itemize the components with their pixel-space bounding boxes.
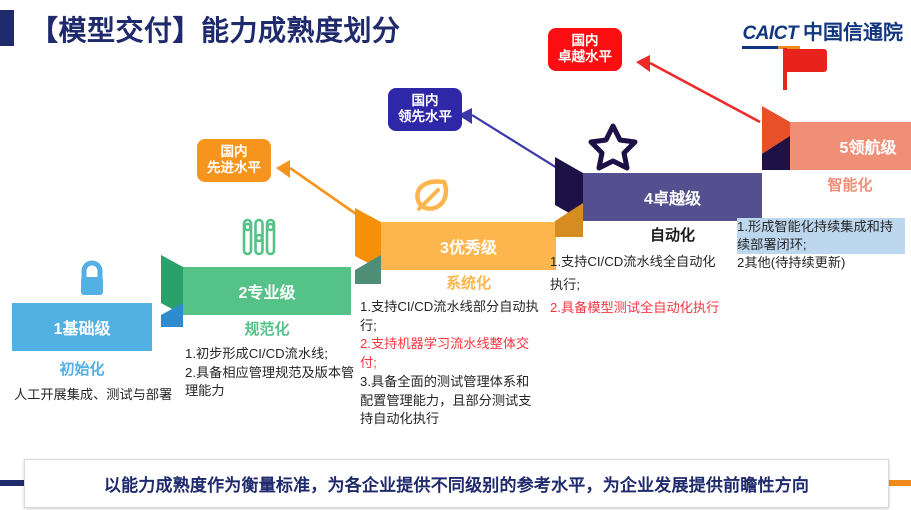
- flag-cloth: [787, 49, 827, 72]
- callout-red-line2: 卓越水平: [558, 49, 612, 65]
- step-level-1-label: 1基础级: [12, 315, 152, 339]
- logo-abbr: CAICT: [742, 23, 798, 49]
- footer-banner: 以能力成熟度作为衡量标准，为各企业提供不同级别的参考水平，为企业发展提供前瞻性方…: [24, 459, 889, 508]
- caict-logo: CAICT中国信通院: [742, 16, 903, 49]
- step-level-2[interactable]: 2专业级: [183, 267, 351, 315]
- star-icon: [587, 122, 639, 174]
- callout-blue-line2: 领先水平: [398, 109, 452, 125]
- callout-blue-line1: 国内: [398, 93, 452, 109]
- step-level-2-body-line-2: 2.具备相应管理规范及版本管理能力: [185, 364, 357, 401]
- step-level-2-label: 2专业级: [183, 279, 351, 303]
- step-level-2-subtitle: 规范化: [183, 318, 351, 339]
- step-level-1[interactable]: 1基础级: [12, 303, 152, 351]
- step-level-5-body-line-1: 1.形成智能化持续集成和持续部署闭环;: [737, 218, 905, 254]
- step-level-5-subtitle: 智能化: [770, 174, 911, 195]
- callout-orange-line2: 先进水平: [207, 160, 261, 176]
- step-level-3-body: 1.支持CI/CD流水线部分自动执行; 2.支持机器学习流水线整体交付; 3.具…: [360, 298, 540, 429]
- step-level-3-label: 3优秀级: [381, 234, 556, 258]
- leaf-icon: [411, 178, 451, 216]
- step-level-4-body: 1.支持CI/CD流水线全自动化执行; 2.具备模型测试全自动化执行: [550, 250, 725, 319]
- step-level-4-body-line-1: 1.支持CI/CD流水线全自动化执行;: [550, 250, 725, 296]
- step-level-4[interactable]: 4卓越级: [583, 173, 762, 221]
- step-level-2-body-line-1: 1.初步形成CI/CD流水线;: [185, 345, 357, 364]
- step-level-1-body: 人工开展集成、测试与部署: [14, 386, 174, 405]
- lock-icon: [74, 258, 110, 302]
- logo-name: 中国信通院: [803, 22, 903, 44]
- step-level-3-body-line-2: 2.支持机器学习流水线整体交付;: [360, 335, 540, 372]
- step-level-3-body-line-1: 1.支持CI/CD流水线部分自动执行;: [360, 298, 540, 335]
- callout-orange[interactable]: 国内 先进水平: [197, 139, 271, 182]
- connector-orange-head: [276, 160, 290, 178]
- step-level-5-body-line-2: 2其他(待持续更新): [737, 254, 905, 272]
- step-level-3[interactable]: 3优秀级: [381, 222, 556, 270]
- slide-canvas: 【模型交付】能力成熟度划分 CAICT中国信通院 国内 先进水平 国内 领先水平…: [0, 0, 911, 510]
- step-level-3-body-line-3: 3.具备全面的测试管理体系和配置管理能力，且部分测试支持自动化执行: [360, 373, 540, 429]
- step-level-2-body: 1.初步形成CI/CD流水线; 2.具备相应管理规范及版本管理能力: [185, 345, 357, 401]
- callout-blue[interactable]: 国内 领先水平: [388, 88, 462, 131]
- callout-red-line1: 国内: [558, 33, 612, 49]
- footer-banner-text: 以能力成熟度作为衡量标准，为各企业提供不同级别的参考水平，为企业发展提供前瞻性方…: [104, 471, 809, 496]
- step-level-3-subtitle: 系统化: [381, 272, 556, 293]
- connector-red-head: [636, 55, 650, 72]
- connector-red: [650, 63, 760, 122]
- title-accent-bar: [0, 10, 14, 46]
- step-level-5-label: 5领航级: [776, 134, 911, 158]
- step-level-1-subtitle: 初始化: [12, 358, 152, 379]
- step-level-5-body: 1.形成智能化持续集成和持续部署闭环; 2其他(待持续更新): [737, 218, 905, 271]
- step-level-5[interactable]: 5领航级: [790, 122, 911, 170]
- page-title: 【模型交付】能力成熟度划分: [30, 9, 401, 49]
- callout-orange-line1: 国内: [207, 144, 261, 160]
- step-level-4-label: 4卓越级: [583, 185, 762, 209]
- step-level-4-body-line-2: 2.具备模型测试全自动化执行: [550, 296, 725, 319]
- callout-red[interactable]: 国内 卓越水平: [548, 28, 622, 71]
- step-level-4-subtitle: 自动化: [583, 224, 762, 245]
- flag-icon: [783, 48, 829, 90]
- sliders-icon: [239, 218, 279, 258]
